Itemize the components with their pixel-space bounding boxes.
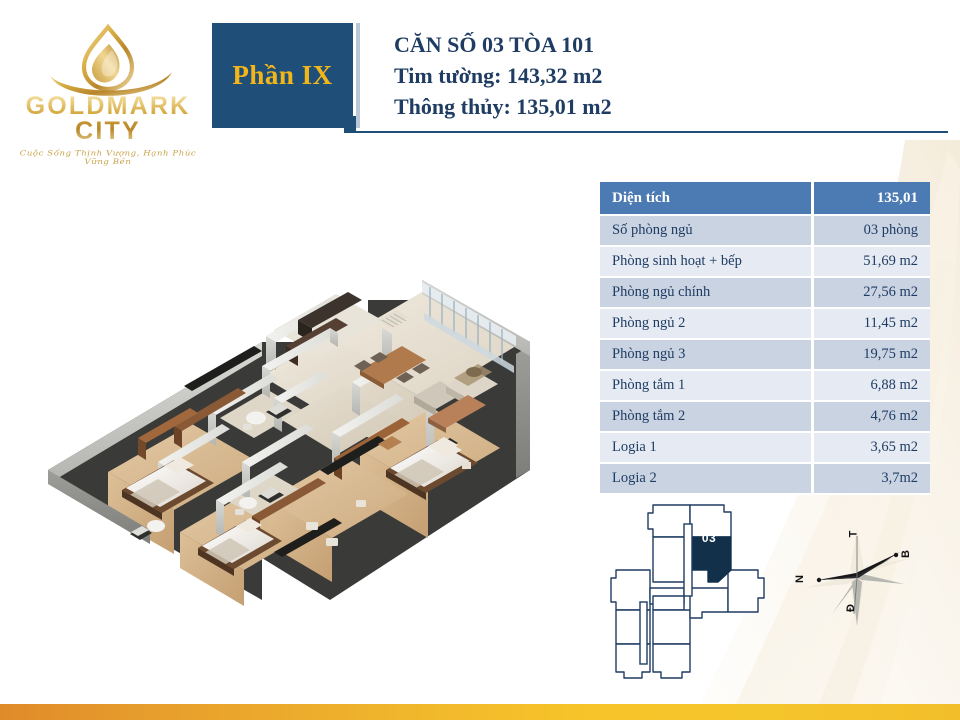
- document-header: GOLDMARK CITY Cuộc Sống Thịnh Vượng, Hạn…: [0, 0, 960, 146]
- row-label: Logia 2: [600, 463, 812, 494]
- row-label: Phòng ngủ chính: [600, 277, 812, 308]
- row-value: 03 phòng: [812, 215, 930, 246]
- table-row: Phòng sinh hoạt + bếp 51,69 m2: [600, 246, 930, 277]
- floorplan-render: [30, 170, 610, 690]
- part-badge: Phần IX: [212, 23, 353, 128]
- table-row: Phòng ngủ 2 11,45 m2: [600, 308, 930, 339]
- isometric-3d-floorplan-icon: [30, 170, 610, 690]
- row-value: 11,45 m2: [812, 308, 930, 339]
- apartment-spec-table: Diện tích 135,01 Số phòng ngủ 03 phòng P…: [600, 182, 930, 495]
- title-line-gross: Tim tường: 143,32 m2: [394, 60, 956, 91]
- floor-key-map: 03: [598, 492, 788, 682]
- row-label: Phòng ngủ 3: [600, 339, 812, 370]
- table-header-row: Diện tích 135,01: [600, 182, 930, 215]
- compass-rose: T B N Đ: [792, 518, 922, 633]
- compass-label-north: B: [900, 550, 912, 558]
- footer-gold-bar: [0, 704, 960, 720]
- row-label: Logia 1: [600, 432, 812, 463]
- table-row: Logia 2 3,7m2: [600, 463, 930, 494]
- compass-label-west: T: [847, 531, 859, 538]
- compass-label-east: Đ: [845, 604, 857, 612]
- row-value: 6,88 m2: [812, 370, 930, 401]
- row-label: Phòng ngủ 2: [600, 308, 812, 339]
- table-row: Logia 1 3,65 m2: [600, 432, 930, 463]
- row-value: 3,7m2: [812, 463, 930, 494]
- part-badge-label: Phần IX: [232, 60, 332, 91]
- title-line-net: Thông thủy: 135,01 m2: [394, 91, 956, 122]
- table-row: Phòng ngủ chính 27,56 m2: [600, 277, 930, 308]
- row-value: 4,76 m2: [812, 401, 930, 432]
- row-label: Phòng sinh hoạt + bếp: [600, 246, 812, 277]
- table-row: Số phòng ngủ 03 phòng: [600, 215, 930, 246]
- keymap-unit-label: 03: [691, 531, 727, 545]
- title-block: CĂN SỐ 03 TÒA 101 Tim tường: 143,32 m2 T…: [356, 23, 956, 128]
- brand-tagline: Cuộc Sống Thịnh Vượng, Hạnh Phúc Vững Bề…: [8, 150, 208, 167]
- floor-key-map-icon: [598, 492, 788, 682]
- row-value: 3,65 m2: [812, 432, 930, 463]
- brand-wordmark: GOLDMARK CITY: [8, 94, 208, 144]
- table-header-value: 135,01: [812, 182, 930, 215]
- row-label: Số phòng ngủ: [600, 215, 812, 246]
- compass-label-south: N: [794, 575, 806, 583]
- table-header-label: Diện tích: [600, 182, 812, 215]
- table-row: Phòng tắm 1 6,88 m2: [600, 370, 930, 401]
- slide-page: GOLDMARK CITY Cuộc Sống Thịnh Vượng, Hạn…: [0, 0, 960, 720]
- table-row: Phòng tắm 2 4,76 m2: [600, 401, 930, 432]
- table-row: Phòng ngủ 3 19,75 m2: [600, 339, 930, 370]
- title-line-unit: CĂN SỐ 03 TÒA 101: [394, 29, 956, 60]
- row-value: 19,75 m2: [812, 339, 930, 370]
- header-divider-rule: [356, 131, 948, 133]
- row-label: Phòng tắm 2: [600, 401, 812, 432]
- flame-leaf-logo-icon: [8, 22, 208, 96]
- row-value: 27,56 m2: [812, 277, 930, 308]
- header-rule-stub: [344, 116, 356, 133]
- row-value: 51,69 m2: [812, 246, 930, 277]
- row-label: Phòng tắm 1: [600, 370, 812, 401]
- brand-logo: GOLDMARK CITY Cuộc Sống Thịnh Vượng, Hạn…: [8, 22, 208, 144]
